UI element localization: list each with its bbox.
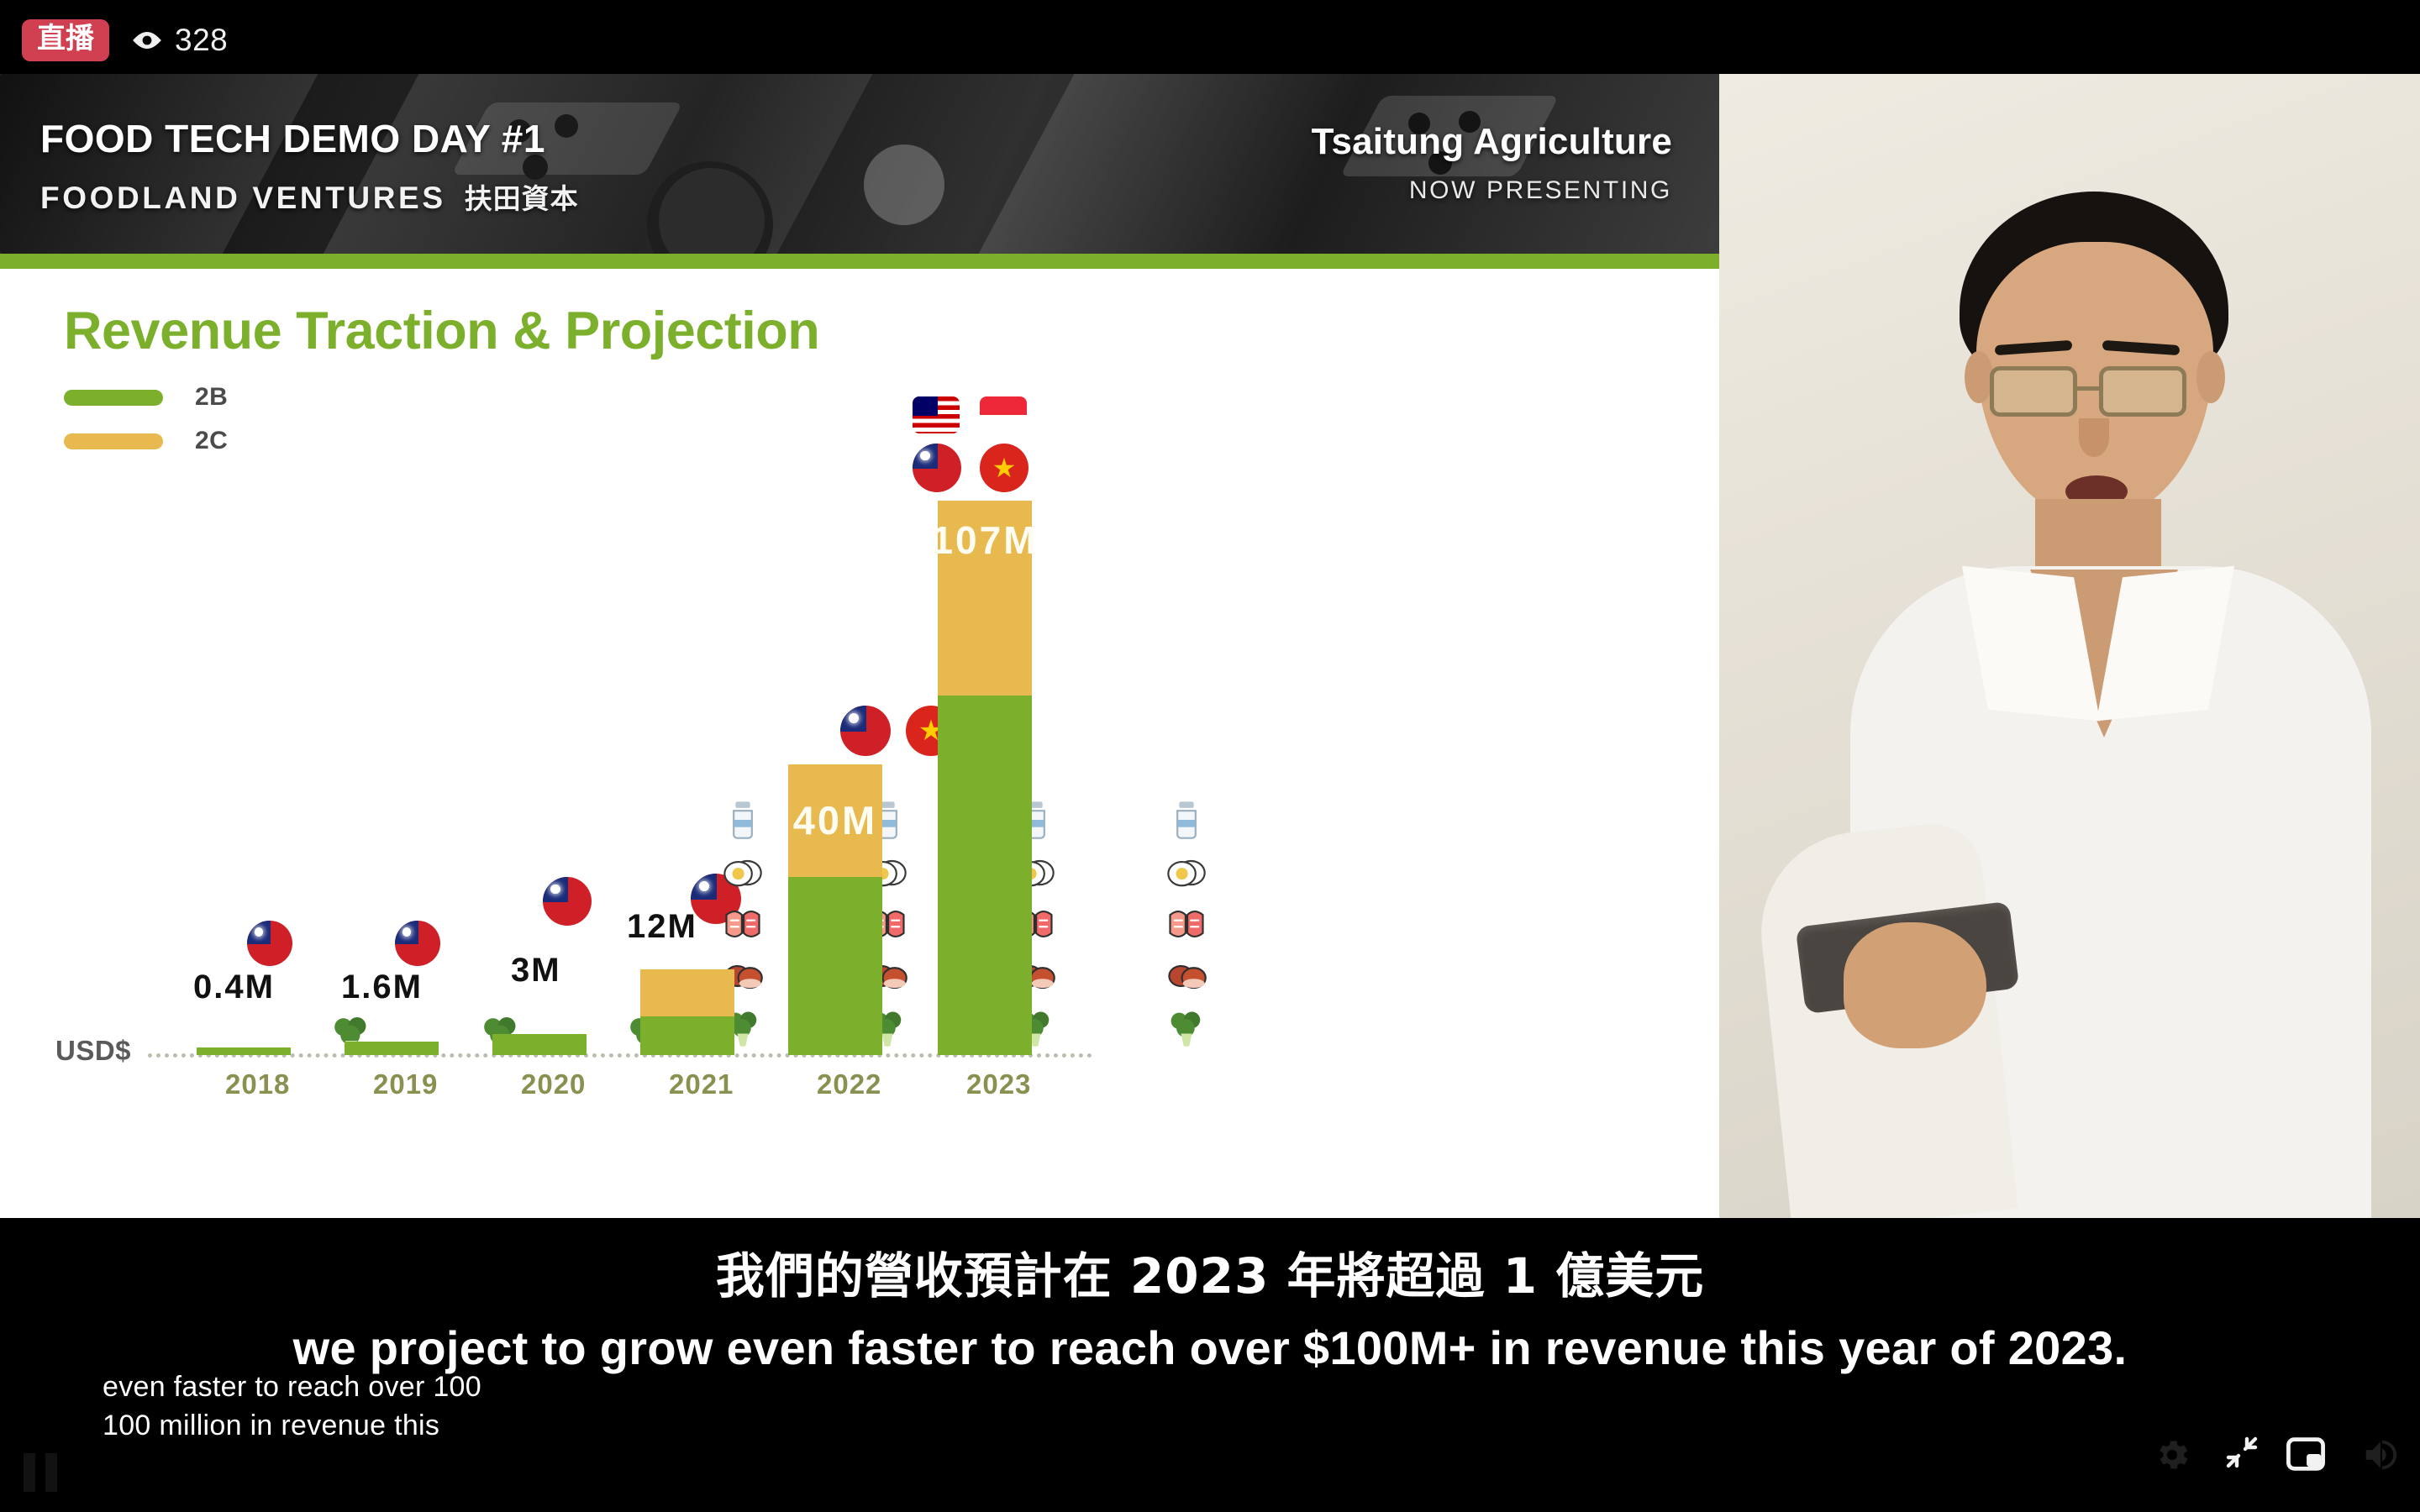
flag-singapore-2023 xyxy=(980,396,1027,433)
value-label-2021: 12M xyxy=(627,908,697,946)
bar-column-2023: 107M xyxy=(938,501,1032,1055)
bar-column-2021: 12M xyxy=(640,969,734,1055)
subtitle-chinese: 我們的營收預計在 2023 年將超過 1 億美元 xyxy=(0,1236,2420,1307)
presenter-nose xyxy=(2079,418,2109,457)
header-knob xyxy=(864,144,944,225)
pause-icon[interactable] xyxy=(24,1453,57,1492)
value-label-2019: 1.6M xyxy=(341,969,423,1006)
accent-bar xyxy=(0,254,1719,269)
x-tick-2023: 2023 xyxy=(966,1068,1031,1100)
slide-header-banner: FOOD TECH DEMO DAY #1 FOODLAND VENTURES … xyxy=(0,74,1719,254)
bar-stack-2021 xyxy=(640,969,734,1055)
x-tick-2021: 2021 xyxy=(669,1068,734,1100)
value-label-2022: 40M xyxy=(793,801,877,841)
bar-segment-2c-2022: 40M xyxy=(788,764,882,877)
bar-segment-2c-2021 xyxy=(640,969,734,1016)
presentation-slide: FOOD TECH DEMO DAY #1 FOODLAND VENTURES … xyxy=(0,74,1719,1218)
live-status-bar: 直播 328 xyxy=(0,0,2420,81)
live-caption-line-1: even faster to reach over 100 xyxy=(103,1371,481,1404)
bar-segment-2b-2022 xyxy=(788,877,882,1055)
organizer-row: FOODLAND VENTURES 扶田資本 xyxy=(40,176,579,217)
bar-column-2018: 0.4M xyxy=(197,1047,291,1055)
product-icons-2023-right xyxy=(1165,798,1208,1050)
organizer-name: FOODLAND VENTURES xyxy=(40,181,446,216)
bar-stack-2022: 40M xyxy=(788,764,882,1055)
x-tick-2022: 2022 xyxy=(817,1068,881,1100)
viewer-count: 328 xyxy=(175,23,228,58)
organizer-name-cn: 扶田資本 xyxy=(465,176,579,217)
presenter-hand xyxy=(1844,922,1986,1048)
salmon-icon xyxy=(1165,902,1208,946)
value-label-2018: 0.4M xyxy=(193,969,275,1006)
presenter-ear-left xyxy=(1965,351,1993,403)
bar-segment-2b-2018 xyxy=(197,1047,291,1055)
flag-malaysia-2023 xyxy=(913,396,960,433)
bar-segment-2c-2023: 107M xyxy=(938,501,1032,696)
x-tick-2018: 2018 xyxy=(225,1068,290,1100)
value-label-2020: 3M xyxy=(511,952,561,990)
presenter-ear-right xyxy=(2196,351,2225,403)
event-branding: FOOD TECH DEMO DAY #1 FOODLAND VENTURES … xyxy=(40,116,579,217)
presenter-glasses-right xyxy=(2099,366,2186,417)
revenue-bar-chart: USD$ ★ ★ xyxy=(0,269,1719,1218)
bar-stack-2018 xyxy=(197,1047,291,1055)
slide-body: Revenue Traction & Projection 2B 2C USD$ xyxy=(0,269,1719,1218)
eye-icon xyxy=(131,29,163,51)
live-badge: 直播 xyxy=(22,19,109,61)
presenting-company: Tsaitung Agriculture NOW PRESENTING xyxy=(1312,121,1672,205)
bar-column-2020: 3M xyxy=(492,1034,587,1055)
exit-fullscreen-icon[interactable] xyxy=(2222,1432,2262,1477)
x-tick-2020: 2020 xyxy=(521,1068,586,1100)
milk-icon xyxy=(1165,798,1208,842)
event-title: FOOD TECH DEMO DAY #1 xyxy=(40,116,579,161)
broccoli-icon xyxy=(1165,1006,1208,1050)
bar-stack-2020 xyxy=(492,1034,587,1055)
live-caption-line-2: 100 million in revenue this xyxy=(103,1410,439,1442)
pip-icon[interactable] xyxy=(2284,1432,2328,1480)
x-tick-2019: 2019 xyxy=(373,1068,438,1100)
value-label-2023: 107M xyxy=(931,521,1038,560)
presenter-glasses-left xyxy=(1990,366,2077,417)
volume-icon[interactable] xyxy=(2359,1436,2398,1478)
bar-column-2022: 40M xyxy=(788,764,882,1055)
company-name: Tsaitung Agriculture xyxy=(1312,121,1672,163)
subtitle-english: we project to grow even faster to reach … xyxy=(0,1320,2420,1375)
subtitle-area: 我們的營收預計在 2023 年將超過 1 億美元 we project to g… xyxy=(0,1218,2420,1512)
presenting-status: NOW PRESENTING xyxy=(1312,176,1672,205)
viewer-count-group: 328 xyxy=(131,23,228,58)
bar-stack-2023: 107M xyxy=(938,501,1032,1055)
presenter-video-feed xyxy=(1719,74,2420,1218)
bar-segment-2b-2021 xyxy=(640,1016,734,1055)
bar-stack-2019 xyxy=(345,1042,439,1055)
bar-segment-2b-2019 xyxy=(345,1042,439,1055)
eggs-icon xyxy=(1165,850,1208,894)
y-axis-label: USD$ xyxy=(55,1035,131,1067)
presenter-glasses-bridge xyxy=(2077,386,2099,391)
meat-icon xyxy=(1165,954,1208,998)
bar-segment-2b-2023 xyxy=(938,696,1032,1055)
bar-group: 0.4M 1.6M 3M xyxy=(148,445,1106,1055)
gear-icon[interactable] xyxy=(2153,1436,2191,1478)
bar-column-2019: 1.6M xyxy=(345,1042,439,1055)
bar-segment-2b-2020 xyxy=(492,1034,587,1055)
video-player-stage: 直播 328 FOOD TECH DEMO xyxy=(0,0,2420,1512)
